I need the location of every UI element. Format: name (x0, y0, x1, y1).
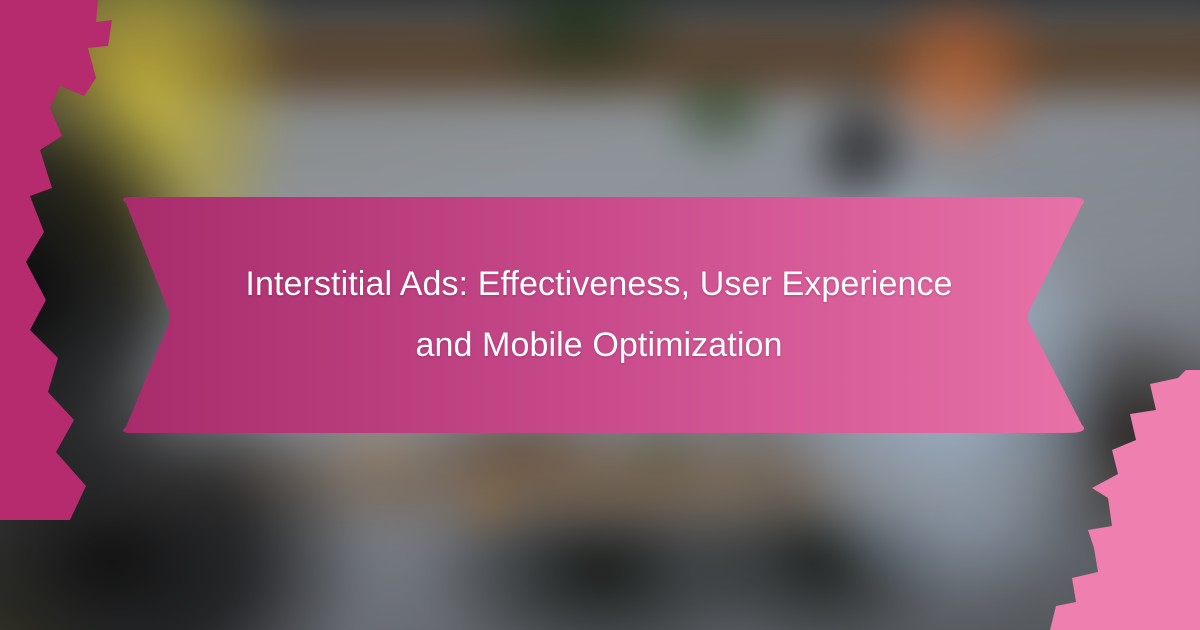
banner-title-line-1: Interstitial Ads: Effectiveness, User Ex… (245, 257, 952, 312)
banner-title: Interstitial Ads: Effectiveness, User Ex… (165, 197, 1033, 433)
hero-banner-stage: Interstitial Ads: Effectiveness, User Ex… (0, 0, 1200, 630)
banner-title-line-2: and Mobile Optimization (415, 318, 782, 373)
